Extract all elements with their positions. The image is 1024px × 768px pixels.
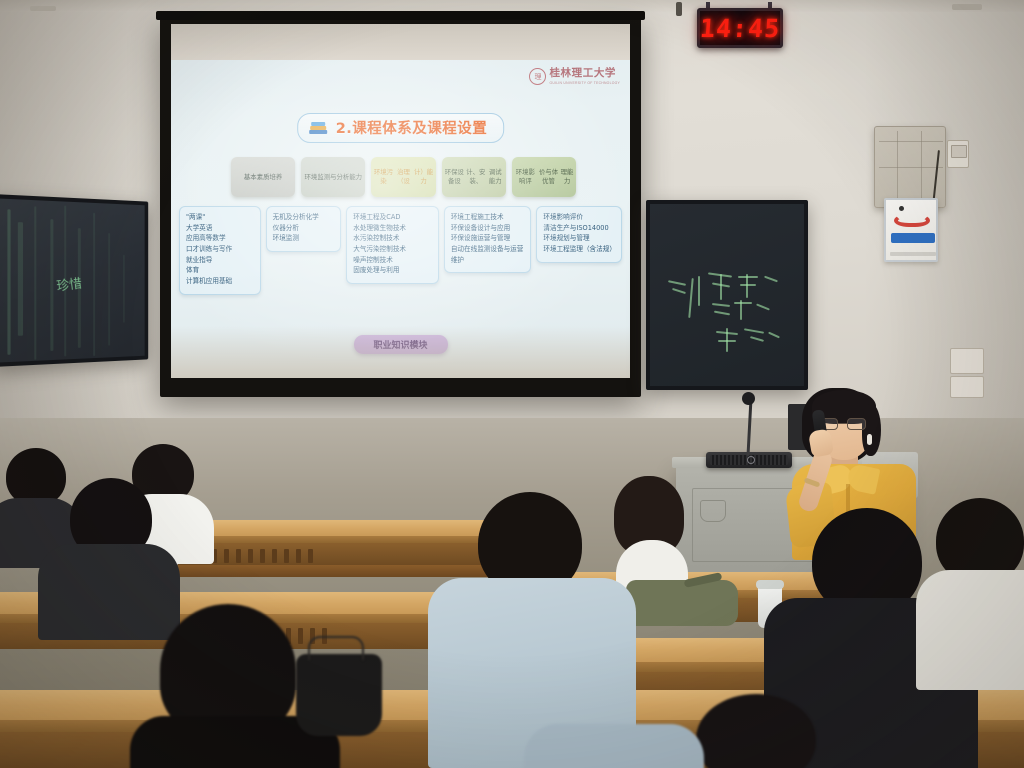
capability-line: 调试能力 xyxy=(487,168,504,185)
course-item: 就业指导 xyxy=(186,255,255,266)
lecture-hall-scene: 14:45 理 桂林理工大学 GUILIN UNIVERSITY OF TECH… xyxy=(0,0,1024,768)
course-item: 体育 xyxy=(186,265,255,276)
course-item: 水处理微生物技术 xyxy=(353,223,433,234)
black-handbag xyxy=(296,654,382,736)
ceiling-mount-right xyxy=(952,4,982,10)
capability-line: 环境影响评 xyxy=(514,168,537,185)
column-basic-quality: "两课"大学英语应用高等数学口才训练与写作就业指导体育计算机应用基础 xyxy=(179,206,261,295)
column-pollution-control: 环境工程及CAD水处理微生物技术水污染控制技术大气污染控制技术噪声控制技术固废处… xyxy=(346,206,439,284)
cabinet-seam xyxy=(879,141,943,142)
student-torso xyxy=(38,544,180,640)
capability-line: 环境污染 xyxy=(373,168,393,185)
course-item: 口才训练与写作 xyxy=(186,244,255,255)
capability-box: 环境监测与分析能力 xyxy=(301,157,365,197)
capability-line: 理能力 xyxy=(560,168,574,185)
handbag-handle xyxy=(308,636,364,660)
thermos-lid xyxy=(756,580,784,589)
capability-line: 价与体优管 xyxy=(537,168,560,185)
student-torso xyxy=(916,570,1024,690)
wall-safety-poster xyxy=(884,198,938,262)
course-item: 应用高等数学 xyxy=(186,233,255,244)
capability-line: 基本素质 xyxy=(244,173,270,182)
course-item: 环境工程及CAD xyxy=(353,212,433,223)
presenter-earring xyxy=(867,434,872,445)
cabinet-seam xyxy=(897,131,898,203)
course-item: 大气污染控制技术 xyxy=(353,244,433,255)
course-item: 环境监测 xyxy=(273,233,336,244)
left-chalkboard-note: 珍惜 xyxy=(55,273,82,295)
course-item: "两课" xyxy=(186,212,255,223)
course-item: 固废处理与利用 xyxy=(353,265,433,276)
course-item: 自动在线监测设备与运营维护 xyxy=(451,244,526,265)
olive-backpack xyxy=(626,580,738,626)
capability-box: 基本素质培养 xyxy=(231,157,295,197)
cabinet-seam xyxy=(879,167,943,168)
course-item: 环境工程监理（含法规） xyxy=(543,244,616,255)
screen-bottom-sheen xyxy=(171,326,630,378)
slide-title-banner: 2.课程体系及课程设置 xyxy=(297,113,505,143)
capability-line: 培养 xyxy=(269,173,282,182)
course-item: 环境工程施工技术 xyxy=(451,212,526,223)
poster-caption-bar xyxy=(890,252,936,256)
capability-row: 基本素质培养 环境监测与分析能力 环境污染治理（设计）能力 环保设备设计、安装、… xyxy=(231,157,576,197)
course-item: 环境规划与管理 xyxy=(543,233,616,244)
column-assessment: 环境影响评价清洁生产与ISO14000环境规划与管理环境工程监理（含法规） xyxy=(536,206,622,263)
wall-plate-upper[interactable] xyxy=(950,348,984,374)
books-icon xyxy=(308,121,328,135)
desk-row-far-edge xyxy=(170,536,530,543)
wall-led-clock: 14:45 xyxy=(697,8,783,48)
ceiling-mount-left xyxy=(30,6,56,11)
cabinet-seam xyxy=(921,131,922,203)
desk-row-far xyxy=(170,520,530,536)
university-name-en: GUILIN UNIVERSITY OF TECHNOLOGY xyxy=(549,81,620,85)
course-item: 噪声控制技术 xyxy=(353,255,433,266)
poster-blue-band xyxy=(891,233,935,243)
projection-screen-frame: 理 桂林理工大学 GUILIN UNIVERSITY OF TECHNOLOGY… xyxy=(160,16,641,397)
wall-power-outlet[interactable] xyxy=(947,140,969,168)
capability-box: 环境影响评价与体优管理能力 xyxy=(512,157,576,197)
projection-screen: 理 桂林理工大学 GUILIN UNIVERSITY OF TECHNOLOGY… xyxy=(171,60,630,378)
course-item: 环境影响评价 xyxy=(543,212,616,223)
right-chalkboard xyxy=(646,200,808,390)
left-chalkboard: 珍惜 xyxy=(0,194,148,367)
course-item: 环保设施运营与管理 xyxy=(451,233,526,244)
capability-line: 计）能力 xyxy=(414,168,434,185)
student-torso xyxy=(524,724,704,768)
podium-emblem-icon xyxy=(700,500,726,522)
column-monitoring: 无机及分析化学仪器分析环境监测 xyxy=(266,206,342,252)
course-item: 仪器分析 xyxy=(273,223,336,234)
course-item: 环保设备设计与应用 xyxy=(451,223,526,234)
capability-line: 计、安装、 xyxy=(465,168,487,185)
course-item: 大学英语 xyxy=(186,223,255,234)
screen-top-margin xyxy=(171,24,630,60)
capability-line: 治理（设 xyxy=(393,168,413,185)
bench-far-slats xyxy=(200,549,313,563)
slide-title: 2.课程体系及课程设置 xyxy=(336,117,488,138)
outlet-face xyxy=(951,145,967,158)
wall-plate-lower[interactable] xyxy=(950,376,984,398)
course-item: 无机及分析化学 xyxy=(273,212,336,223)
poster-red-arc xyxy=(894,214,930,227)
course-item: 水污染控制技术 xyxy=(353,233,433,244)
course-item: 清洁生产与ISO14000 xyxy=(543,223,616,234)
microphone-head-icon xyxy=(742,392,755,405)
clock-time: 14:45 xyxy=(699,14,781,43)
university-name: 桂林理工大学 xyxy=(549,68,620,79)
course-item: 计算机应用基础 xyxy=(186,276,255,287)
column-equipment: 环境工程施工技术环保设备设计与应用环保设施运营与管理自动在线监测设备与运营维护 xyxy=(444,206,532,273)
course-columns: "两课"大学英语应用高等数学口才训练与写作就业指导体育计算机应用基础 无机及分析… xyxy=(179,206,622,295)
bench-far xyxy=(176,565,522,577)
university-seal-icon: 理 xyxy=(529,68,546,85)
capability-line: 环境监测与 xyxy=(305,173,337,182)
capability-line: 环保设备设 xyxy=(444,168,466,185)
capability-box: 环境污染治理（设计）能力 xyxy=(371,157,435,197)
poster-mark-icon xyxy=(899,206,904,211)
right-chalk-handwriting xyxy=(668,274,798,354)
university-logo: 理 桂林理工大学 GUILIN UNIVERSITY OF TECHNOLOGY xyxy=(529,68,620,85)
capability-box: 环保设备设计、安装、调试能力 xyxy=(442,157,506,197)
projector-rod xyxy=(676,2,682,16)
capability-line: 分析能力 xyxy=(337,173,363,182)
